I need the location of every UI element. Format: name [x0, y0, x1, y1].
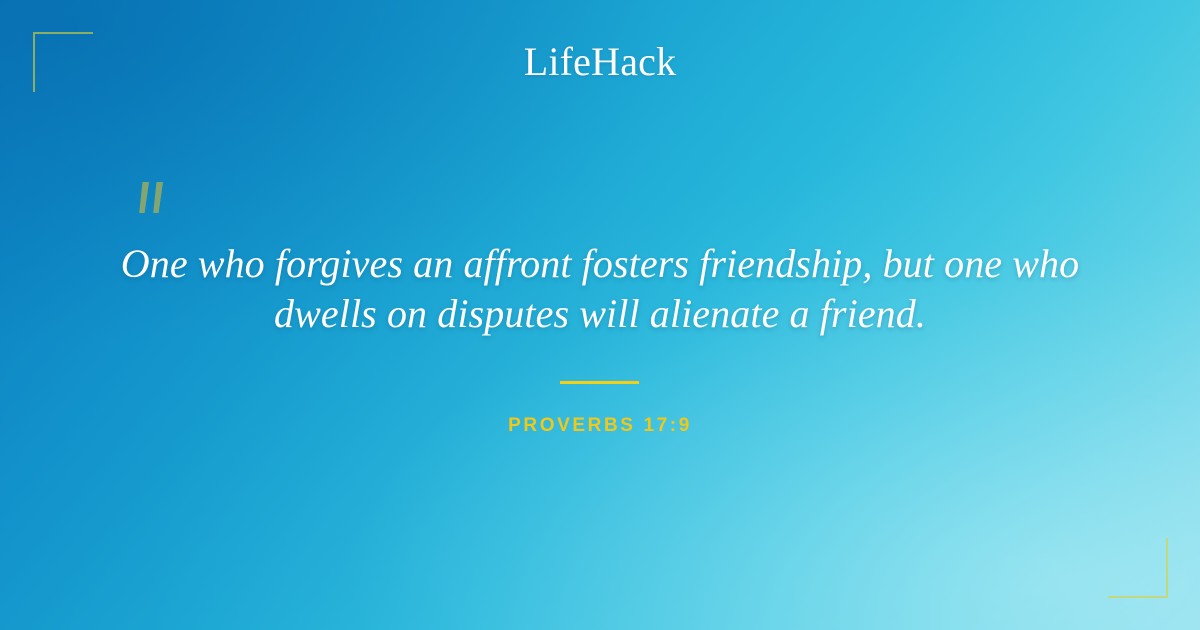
quote-attribution: PROVERBS 17:9: [0, 414, 1200, 438]
lifehack-logo: LifeHack: [0, 40, 1200, 84]
quote-card: LifeHack One who forgives an affront fos…: [0, 0, 1200, 630]
corner-bracket-bottom-right-icon: [1108, 538, 1168, 598]
quote-text: One who forgives an affront fosters frie…: [100, 239, 1100, 339]
quote-mark-icon: [126, 152, 186, 222]
divider-rule: [560, 381, 639, 384]
quote-block: One who forgives an affront fosters frie…: [100, 239, 1100, 339]
